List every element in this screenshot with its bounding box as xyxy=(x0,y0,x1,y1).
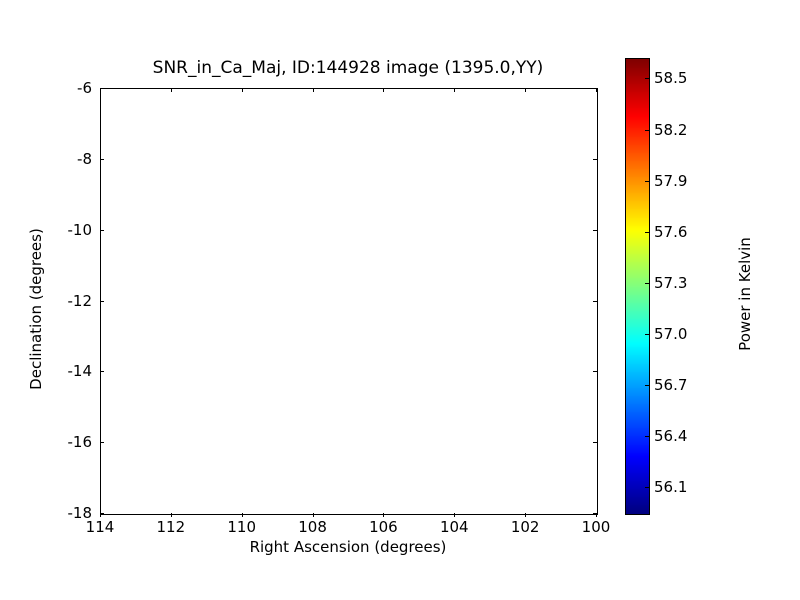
x-tick-label: 106 xyxy=(353,518,413,536)
colorbar-tick-label: 57.9 xyxy=(654,172,687,190)
x-tick-mark xyxy=(454,88,455,92)
y-tick-mark xyxy=(593,442,597,443)
y-tick-mark xyxy=(593,301,597,302)
figure-canvas: SNR_in_Ca_Maj, ID:144928 image (1395.0,Y… xyxy=(0,0,800,600)
colorbar-tick-mark xyxy=(645,232,649,233)
colorbar-frame xyxy=(625,58,650,515)
x-tick-mark xyxy=(242,88,243,92)
colorbar-tick-mark xyxy=(645,487,649,488)
x-tick-mark xyxy=(313,513,314,517)
colorbar-tick-mark xyxy=(645,181,649,182)
x-tick-label: 110 xyxy=(212,518,272,536)
y-tick-label: -8 xyxy=(32,150,92,168)
y-axis-label: Declination (degrees) xyxy=(27,189,45,429)
y-tick-mark xyxy=(593,513,597,514)
x-tick-label: 108 xyxy=(283,518,343,536)
y-tick-mark xyxy=(593,371,597,372)
colorbar-tick-mark xyxy=(645,130,649,131)
y-tick-mark xyxy=(593,88,597,89)
x-tick-mark xyxy=(171,88,172,92)
x-tick-mark xyxy=(383,88,384,92)
colorbar-tick-label: 56.7 xyxy=(654,376,687,394)
y-tick-mark xyxy=(100,230,104,231)
x-tick-mark xyxy=(525,513,526,517)
x-tick-mark xyxy=(454,513,455,517)
y-tick-label: -6 xyxy=(32,79,92,97)
colorbar-tick-mark xyxy=(645,283,649,284)
colorbar-label: Power in Kelvin xyxy=(736,174,754,414)
y-tick-mark xyxy=(100,88,104,89)
x-tick-label: 100 xyxy=(566,518,626,536)
colorbar-tick-label: 56.4 xyxy=(654,427,687,445)
y-tick-mark xyxy=(100,442,104,443)
page-title: SNR_in_Ca_Maj, ID:144928 image (1395.0,Y… xyxy=(100,58,596,78)
colorbar-tick-label: 57.0 xyxy=(654,325,687,343)
y-tick-mark xyxy=(100,513,104,514)
colorbar-tick-label: 56.1 xyxy=(654,478,687,496)
colorbar-tick-mark xyxy=(645,436,649,437)
colorbar-tick-mark xyxy=(645,385,649,386)
axes-frame xyxy=(100,88,598,515)
y-tick-label: -16 xyxy=(32,433,92,451)
x-axis-label: Right Ascension (degrees) xyxy=(100,538,596,556)
y-tick-mark xyxy=(593,230,597,231)
y-tick-mark xyxy=(100,301,104,302)
colorbar-tick-label: 57.3 xyxy=(654,274,687,292)
y-tick-mark xyxy=(100,371,104,372)
x-tick-mark xyxy=(525,88,526,92)
colorbar-tick-mark xyxy=(645,334,649,335)
x-tick-label: 112 xyxy=(141,518,201,536)
x-tick-mark xyxy=(171,513,172,517)
colorbar-tick-label: 58.5 xyxy=(654,69,687,87)
x-tick-label: 102 xyxy=(495,518,555,536)
colorbar-tick-label: 57.6 xyxy=(654,223,687,241)
x-tick-mark xyxy=(383,513,384,517)
colorbar-tick-mark xyxy=(645,78,649,79)
y-tick-mark xyxy=(593,159,597,160)
x-tick-label: 104 xyxy=(424,518,484,536)
x-tick-mark xyxy=(313,88,314,92)
y-tick-label: -18 xyxy=(32,504,92,522)
y-tick-mark xyxy=(100,159,104,160)
colorbar-tick-label: 58.2 xyxy=(654,121,687,139)
x-tick-mark xyxy=(242,513,243,517)
